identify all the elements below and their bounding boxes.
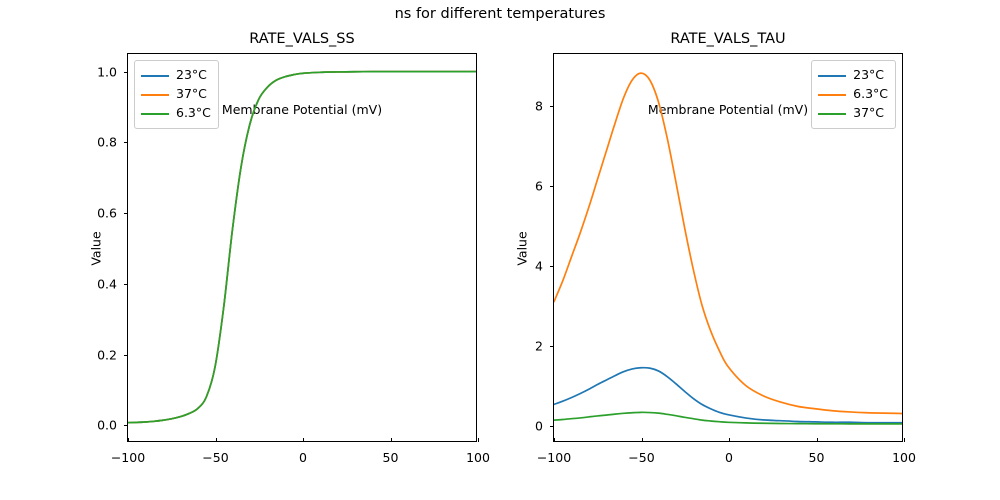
legend-entry[interactable]: 6.3°C bbox=[818, 85, 888, 104]
x-tick-mark bbox=[729, 438, 730, 442]
legend-label: 23°C bbox=[176, 69, 207, 82]
x-tick-label: 100 bbox=[892, 450, 916, 465]
legend-entry[interactable]: 37°C bbox=[141, 85, 211, 104]
y-tick-label: 0.4 bbox=[97, 276, 117, 291]
y-tick-label: 8 bbox=[535, 99, 543, 114]
legend-line-swatch bbox=[818, 94, 846, 96]
legend-entry[interactable]: 23°C bbox=[141, 66, 211, 85]
y-tick-mark bbox=[550, 346, 554, 347]
y-tick-mark bbox=[550, 186, 554, 187]
y-tick-mark bbox=[124, 72, 128, 73]
x-tick-label: −100 bbox=[537, 450, 571, 465]
y-tick-mark bbox=[124, 213, 128, 214]
x-tick-label: −100 bbox=[111, 450, 145, 465]
legend-label: 37°C bbox=[853, 107, 884, 120]
legend-label: 37°C bbox=[176, 88, 207, 101]
x-tick-mark bbox=[128, 438, 129, 442]
y-tick-label: 1.0 bbox=[97, 64, 117, 79]
legend-right[interactable]: 23°C6.3°C37°C bbox=[811, 60, 896, 129]
x-tick-label: 0 bbox=[725, 450, 733, 465]
x-tick-label: 50 bbox=[809, 450, 825, 465]
legend-line-swatch bbox=[818, 113, 846, 115]
y-tick-label: 0.0 bbox=[97, 418, 117, 433]
legend-line-swatch bbox=[141, 113, 169, 115]
x-tick-mark bbox=[642, 438, 643, 442]
legend-line-swatch bbox=[141, 94, 169, 96]
legend-entry[interactable]: 6.3°C bbox=[141, 104, 211, 123]
axes-rate-vals-tau: RATE_VALS_TAU Value Membrane Potential (… bbox=[553, 53, 903, 442]
legend-left[interactable]: 23°C37°C6.3°C bbox=[134, 60, 219, 129]
legend-line-swatch bbox=[818, 75, 846, 77]
x-tick-label: 0 bbox=[299, 450, 307, 465]
legend-entry[interactable]: 37°C bbox=[818, 104, 888, 123]
y-tick-mark bbox=[124, 355, 128, 356]
y-tick-mark bbox=[124, 284, 128, 285]
y-tick-label: 0.6 bbox=[97, 206, 117, 221]
legend-label: 23°C bbox=[853, 69, 884, 82]
y-tick-mark bbox=[550, 426, 554, 427]
matplotlib-figure: ns for different temperatures RATE_VALS_… bbox=[0, 0, 1000, 500]
axes-rate-vals-ss: RATE_VALS_SS Value Membrane Potential (m… bbox=[127, 53, 477, 442]
x-tick-mark bbox=[303, 438, 304, 442]
x-tick-mark bbox=[817, 438, 818, 442]
subplot-title-right: RATE_VALS_TAU bbox=[554, 31, 902, 47]
x-tick-mark bbox=[554, 438, 555, 442]
y-tick-label: 0.8 bbox=[97, 135, 117, 150]
legend-line-swatch bbox=[141, 75, 169, 77]
y-tick-label: 6 bbox=[535, 179, 543, 194]
x-tick-label: −50 bbox=[628, 450, 654, 465]
y-axis-label-right: Value bbox=[515, 189, 530, 309]
y-tick-label: 4 bbox=[535, 259, 543, 274]
x-tick-mark bbox=[904, 438, 905, 442]
x-tick-label: 100 bbox=[466, 450, 490, 465]
x-tick-mark bbox=[216, 438, 217, 442]
y-tick-mark bbox=[124, 425, 128, 426]
y-tick-mark bbox=[124, 142, 128, 143]
y-tick-mark bbox=[550, 106, 554, 107]
legend-entry[interactable]: 23°C bbox=[818, 66, 888, 85]
y-tick-label: 2 bbox=[535, 339, 543, 354]
legend-label: 6.3°C bbox=[853, 88, 888, 101]
x-tick-label: −50 bbox=[202, 450, 228, 465]
x-tick-mark bbox=[478, 438, 479, 442]
y-tick-mark bbox=[550, 266, 554, 267]
y-tick-label: 0 bbox=[535, 419, 543, 434]
legend-label: 6.3°C bbox=[176, 107, 211, 120]
subplot-title-left: RATE_VALS_SS bbox=[128, 31, 476, 47]
x-tick-mark bbox=[391, 438, 392, 442]
figure-suptitle: ns for different temperatures bbox=[0, 6, 1000, 22]
x-tick-label: 50 bbox=[383, 450, 399, 465]
y-tick-label: 0.2 bbox=[97, 347, 117, 362]
